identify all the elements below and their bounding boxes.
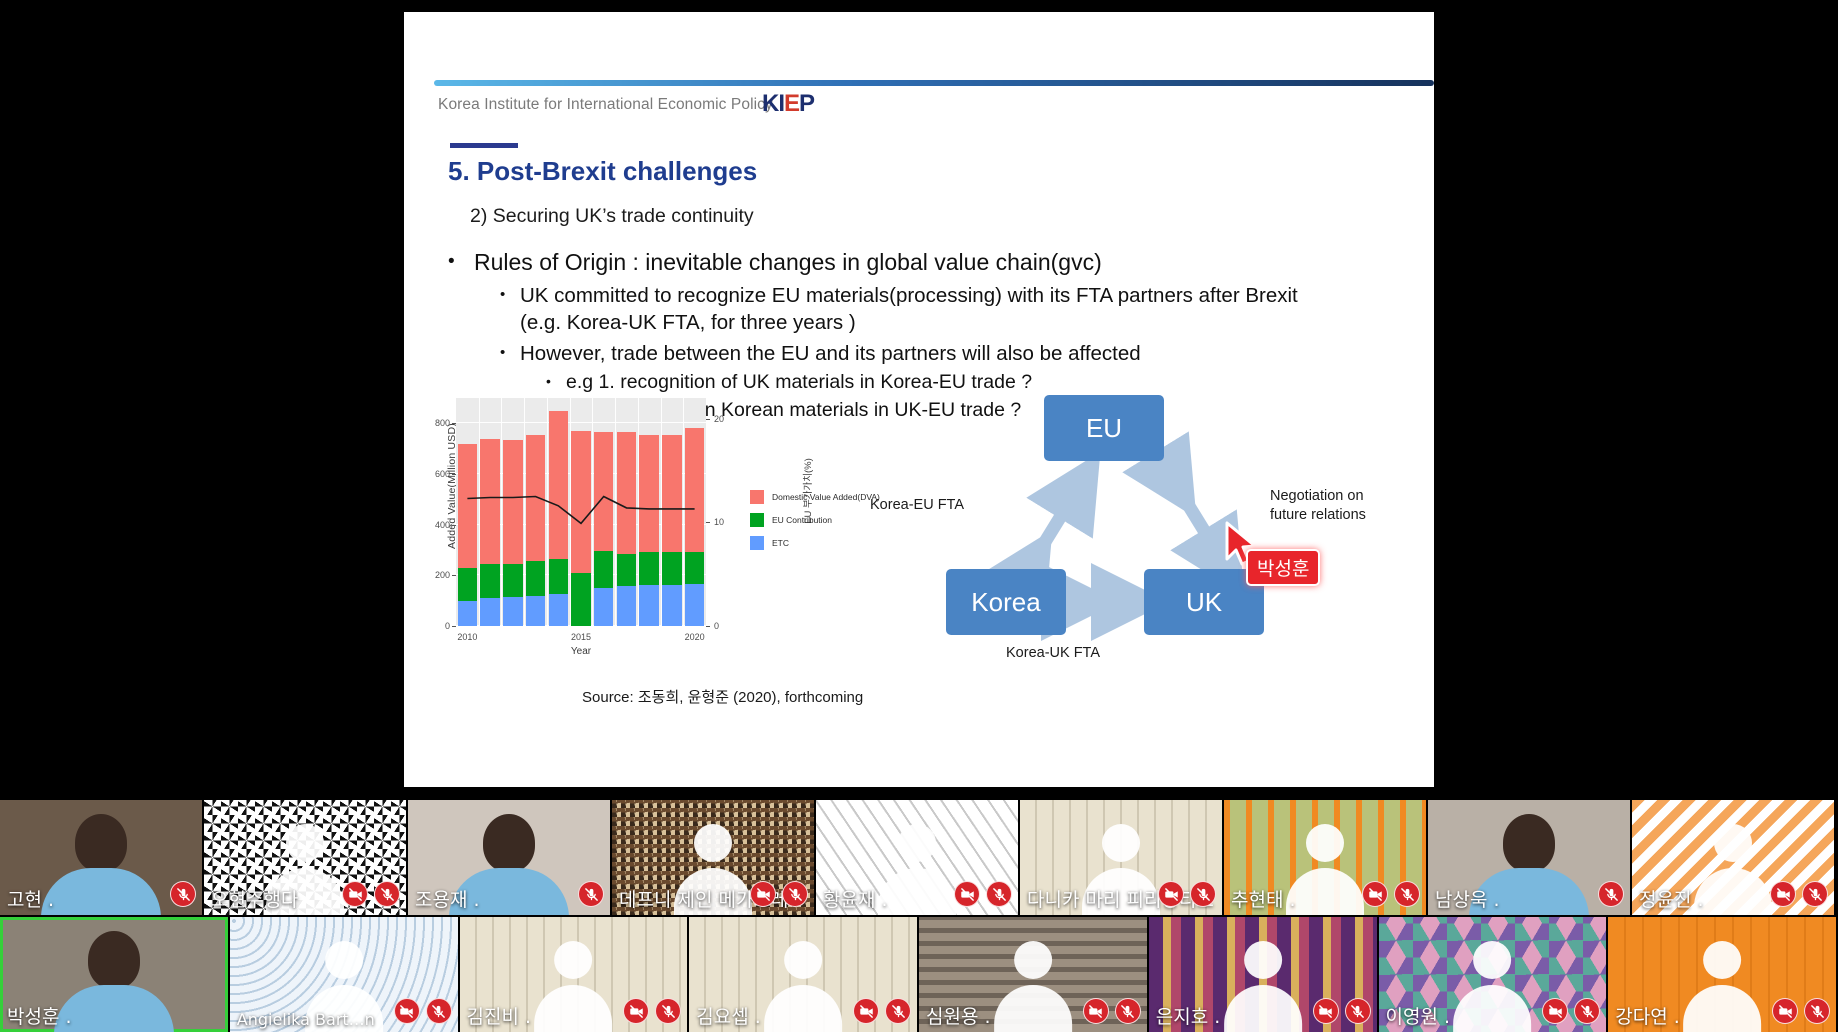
diagram-node-korea: Korea <box>946 569 1066 635</box>
participant-name: 정윤진 . <box>1639 885 1704 912</box>
mute-badge <box>1345 998 1371 1024</box>
video-off-badge <box>853 998 879 1024</box>
status-badges <box>1362 881 1420 907</box>
video-off-badge <box>623 998 649 1024</box>
chart-legend-swatch <box>750 490 764 504</box>
participant-name: 심원용 . <box>926 1002 991 1029</box>
mute-badge <box>885 998 911 1024</box>
avatar-head <box>1102 824 1140 862</box>
mute-badge <box>1190 881 1216 907</box>
mic-off-icon <box>1350 1004 1365 1019</box>
zoom-meeting-window: Korea Institute for International Econom… <box>0 0 1838 1032</box>
avatar-head <box>1714 824 1752 862</box>
status-badges <box>750 881 808 907</box>
status-badges <box>578 881 604 907</box>
mute-badge <box>578 881 604 907</box>
chart-plot-area <box>456 398 706 626</box>
diagram-node-eu: EU <box>1044 395 1164 461</box>
participant-tile[interactable]: 추현태 . <box>1224 800 1426 915</box>
kiep-logo-p: P <box>799 90 814 117</box>
diagram-label-negotiation-line2: future relations <box>1270 506 1366 525</box>
mute-badge <box>426 998 452 1024</box>
video-off-icon <box>1778 1004 1793 1019</box>
chart-legend: Domestic Value Added(DVA)EU Contribution… <box>750 490 880 559</box>
chart-legend-item: Domestic Value Added(DVA) <box>750 490 880 504</box>
avatar-body <box>1694 868 1772 915</box>
chart-x-tick-label: 2015 <box>571 632 591 642</box>
person-shoulders <box>41 868 161 915</box>
participant-tile[interactable]: 박성훈 . <box>0 917 228 1032</box>
video-off-icon <box>756 887 771 902</box>
participant-tile[interactable]: 이영원 . <box>1379 917 1607 1032</box>
mic-off-icon <box>1120 1004 1135 1019</box>
chart-legend-item: ETC <box>750 536 880 550</box>
person-head <box>1503 814 1555 872</box>
status-badges <box>1770 881 1828 907</box>
chart-y-tick-label: 600 <box>435 469 450 479</box>
arrow-eu-uk <box>1176 485 1224 563</box>
video-off-badge <box>394 998 420 1024</box>
participant-name: 조용재 . <box>415 885 480 912</box>
avatar-head <box>1473 941 1511 979</box>
status-badges <box>342 881 400 907</box>
mute-badge <box>1598 881 1624 907</box>
video-off-badge <box>1362 881 1388 907</box>
video-off-badge <box>1542 998 1568 1024</box>
chart-x-tick-label: 2010 <box>457 632 477 642</box>
chart-y-tick-mark <box>452 626 456 627</box>
participant-name: 은지호 . <box>1156 1002 1221 1029</box>
status-badges <box>394 998 452 1024</box>
status-badges <box>623 998 681 1024</box>
chart-y-axis-right: 01020 <box>706 398 746 626</box>
avatar-head <box>1306 824 1344 862</box>
participant-name: 추현태 . <box>1231 885 1296 912</box>
diagram-label-korea-eu-fta: Korea-EU FTA <box>870 497 964 513</box>
participant-tile[interactable]: 심원용 . <box>919 917 1147 1032</box>
mic-off-icon <box>431 1004 446 1019</box>
chart-x-tick-label: 2020 <box>685 632 705 642</box>
video-off-icon <box>1368 887 1383 902</box>
video-off-badge <box>1158 881 1184 907</box>
avatar-head <box>1703 941 1741 979</box>
video-off-icon <box>1776 887 1791 902</box>
participant-tile[interactable]: 데프니 제인 메가프레 <box>612 800 814 915</box>
participant-tile[interactable]: 오현주행다 <box>204 800 406 915</box>
mic-off-icon <box>584 887 599 902</box>
participant-name: 이영원 . <box>1386 1002 1451 1029</box>
video-off-icon <box>859 1004 874 1019</box>
mic-off-icon <box>992 887 1007 902</box>
mic-off-icon <box>788 887 803 902</box>
participant-name: 김요셉 . <box>696 1002 761 1029</box>
kiep-logo: KIEP <box>762 90 814 118</box>
avatar-body <box>764 985 842 1032</box>
video-off-icon <box>960 887 975 902</box>
participant-row-1: 고현 . 오현주행다 조용재 . 데프니 제인 메가프레 황윤재 . 다니카 마… <box>0 800 1838 915</box>
participant-tile[interactable]: 김진비 . <box>460 917 688 1032</box>
avatar-head <box>286 824 324 862</box>
mute-badge <box>1115 998 1141 1024</box>
participant-filmstrip: 고현 . 오현주행다 조용재 . 데프니 제인 메가프레 황윤재 . 다니카 마… <box>0 800 1838 1032</box>
status-badges <box>1313 998 1371 1024</box>
slide-subheading: 2) Securing UK’s trade continuity <box>470 205 754 228</box>
mic-off-icon <box>891 1004 906 1019</box>
participant-name: 오현주행다 <box>211 885 298 912</box>
presentation-slide: Korea Institute for International Econom… <box>404 12 1434 787</box>
chart-legend-swatch <box>750 513 764 527</box>
video-off-icon <box>399 1004 414 1019</box>
title-accent-bar <box>450 143 518 148</box>
chart-y-tick-mark-right <box>706 626 710 627</box>
chart-x-axis-label: Year <box>456 646 706 657</box>
mic-off-icon <box>380 887 395 902</box>
mic-off-icon <box>1604 887 1619 902</box>
mute-badge <box>1804 998 1830 1024</box>
person-head <box>88 931 140 989</box>
participant-tile[interactable]: 황윤재 . <box>816 800 1018 915</box>
video-off-badge <box>954 881 980 907</box>
mute-badge <box>1802 881 1828 907</box>
video-off-badge <box>1770 881 1796 907</box>
arrow-korea-eu <box>1032 485 1080 563</box>
status-badges <box>853 998 911 1024</box>
mic-off-icon <box>1196 887 1211 902</box>
shared-screen-stage: Korea Institute for International Econom… <box>0 0 1838 800</box>
slide-title: 5. Post-Brexit challenges <box>448 156 757 187</box>
bullet-level2-however-trade: However, trade between the EU and its pa… <box>438 340 1428 367</box>
chart-y-tick-label: 400 <box>435 520 450 530</box>
chart-y-tick-label: 0 <box>445 621 450 631</box>
mute-badge <box>1394 881 1420 907</box>
video-off-icon <box>1548 1004 1563 1019</box>
participant-tile[interactable]: 다니카 마리 피리앙티로 <box>1020 800 1222 915</box>
video-off-badge <box>750 881 776 907</box>
participant-tile[interactable]: 정윤진 . <box>1632 800 1834 915</box>
avatar-head <box>554 941 592 979</box>
avatar-body <box>994 985 1072 1032</box>
avatar-body <box>1286 868 1364 915</box>
kiep-logo-e: E <box>784 90 799 117</box>
participant-name: 박성훈 . <box>7 1002 72 1029</box>
stacked-bar-chart: Added Value(Million USD) EU 부가가치(%) 0200… <box>414 392 924 682</box>
remote-cursor-name-label: 박성훈 <box>1246 549 1320 586</box>
chart-y-tick-mark-right <box>706 419 710 420</box>
participant-tile[interactable]: 남상욱 . <box>1428 800 1630 915</box>
video-off-icon <box>629 1004 644 1019</box>
status-badges <box>954 881 1012 907</box>
avatar-body <box>878 868 956 915</box>
chart-y-axis-left: 0200400600800 <box>414 398 456 626</box>
video-off-icon <box>1318 1004 1333 1019</box>
chart-source-note: Source: 조동희, 윤형준 (2020), forthcoming <box>582 686 863 707</box>
chart-legend-label: ETC <box>772 538 789 548</box>
avatar-head <box>898 824 936 862</box>
avatar-body <box>534 985 612 1032</box>
participant-name: 남상욱 . <box>1435 885 1500 912</box>
chart-y-tick-label: 200 <box>435 570 450 580</box>
participant-name: 고현 . <box>7 885 54 912</box>
video-off-badge <box>1083 998 1109 1024</box>
person-head <box>75 814 127 872</box>
participant-name: Angielika Bart…n <box>237 1010 375 1029</box>
person-head <box>483 814 535 872</box>
header-rule <box>434 80 1434 86</box>
avatar-head <box>784 941 822 979</box>
video-off-icon <box>1164 887 1179 902</box>
chart-y-tick-label-right: 20 <box>714 414 724 424</box>
participant-name: 김진비 . <box>467 1002 532 1029</box>
mute-badge <box>170 881 196 907</box>
avatar-body <box>1683 985 1761 1032</box>
mute-badge <box>374 881 400 907</box>
mic-off-icon <box>661 1004 676 1019</box>
avatar-head <box>1014 941 1052 979</box>
avatar-head <box>694 824 732 862</box>
participant-name: 황윤재 . <box>823 885 888 912</box>
participant-tile[interactable]: 고현 . <box>0 800 202 915</box>
participant-tile[interactable]: 강다연 . <box>1608 917 1836 1032</box>
chart-overlay-line <box>456 398 706 626</box>
avatar-head <box>1244 941 1282 979</box>
mic-off-icon <box>1580 1004 1595 1019</box>
status-badges <box>170 881 196 907</box>
mute-badge <box>986 881 1012 907</box>
avatar-body <box>1224 985 1302 1032</box>
video-off-icon <box>348 887 363 902</box>
status-badges <box>1158 881 1216 907</box>
avatar-head <box>325 941 363 979</box>
chart-y-tick-label-right: 10 <box>714 517 724 527</box>
participant-tile[interactable]: 은지호 . <box>1149 917 1377 1032</box>
participant-row-2: 박성훈 .Angielika Bart…n 김진비 . 김요셉 . 심원용 . … <box>0 917 1838 1032</box>
mic-off-icon <box>1400 887 1415 902</box>
participant-name: 강다연 . <box>1615 1002 1680 1029</box>
chart-y-tick-label: 800 <box>435 418 450 428</box>
bullet-level2-eg-korea-uk-fta: (e.g. Korea-UK FTA, for three years ) <box>438 309 1428 336</box>
participant-tile[interactable]: Angielika Bart…n <box>230 917 458 1032</box>
mic-off-icon <box>1810 1004 1825 1019</box>
diagram-label-negotiation-line1: Negotiation on <box>1270 487 1366 506</box>
kiep-logo-k: K <box>762 90 778 117</box>
diagram-label-korea-uk-fta: Korea-UK FTA <box>1006 645 1100 661</box>
bullet-level1-rules-of-origin: Rules of Origin : inevitable changes in … <box>438 247 1428 278</box>
mic-off-icon <box>176 887 191 902</box>
status-badges <box>1542 998 1600 1024</box>
video-off-badge <box>342 881 368 907</box>
avatar-body <box>1453 985 1531 1032</box>
chart-legend-swatch <box>750 536 764 550</box>
status-badges <box>1598 881 1624 907</box>
video-off-badge <box>1313 998 1339 1024</box>
status-badges <box>1772 998 1830 1024</box>
chart-y-tick-label-right: 0 <box>714 621 719 631</box>
chart-legend-label: EU Contribution <box>772 515 832 525</box>
video-off-icon <box>1088 1004 1103 1019</box>
status-badges <box>1083 998 1141 1024</box>
chart-legend-item: EU Contribution <box>750 513 880 527</box>
bullet-level2-uk-committed: UK committed to recognize EU materials(p… <box>438 282 1428 309</box>
mute-badge <box>655 998 681 1024</box>
mic-off-icon <box>1808 887 1823 902</box>
chart-legend-label: Domestic Value Added(DVA) <box>772 492 880 502</box>
participant-tile[interactable]: 조용재 . <box>408 800 610 915</box>
institute-name: Korea Institute for International Econom… <box>438 96 773 114</box>
video-off-badge <box>1772 998 1798 1024</box>
diagram-label-negotiation: Negotiation on future relations <box>1270 487 1366 525</box>
chart-y-tick-mark-right <box>706 522 710 523</box>
trade-relations-diagram: EU Korea UK Korea-EU FTA Korea-UK FTA Ne… <box>874 387 1434 687</box>
participant-tile[interactable]: 김요셉 . <box>689 917 917 1032</box>
mute-badge <box>1574 998 1600 1024</box>
mute-badge <box>782 881 808 907</box>
